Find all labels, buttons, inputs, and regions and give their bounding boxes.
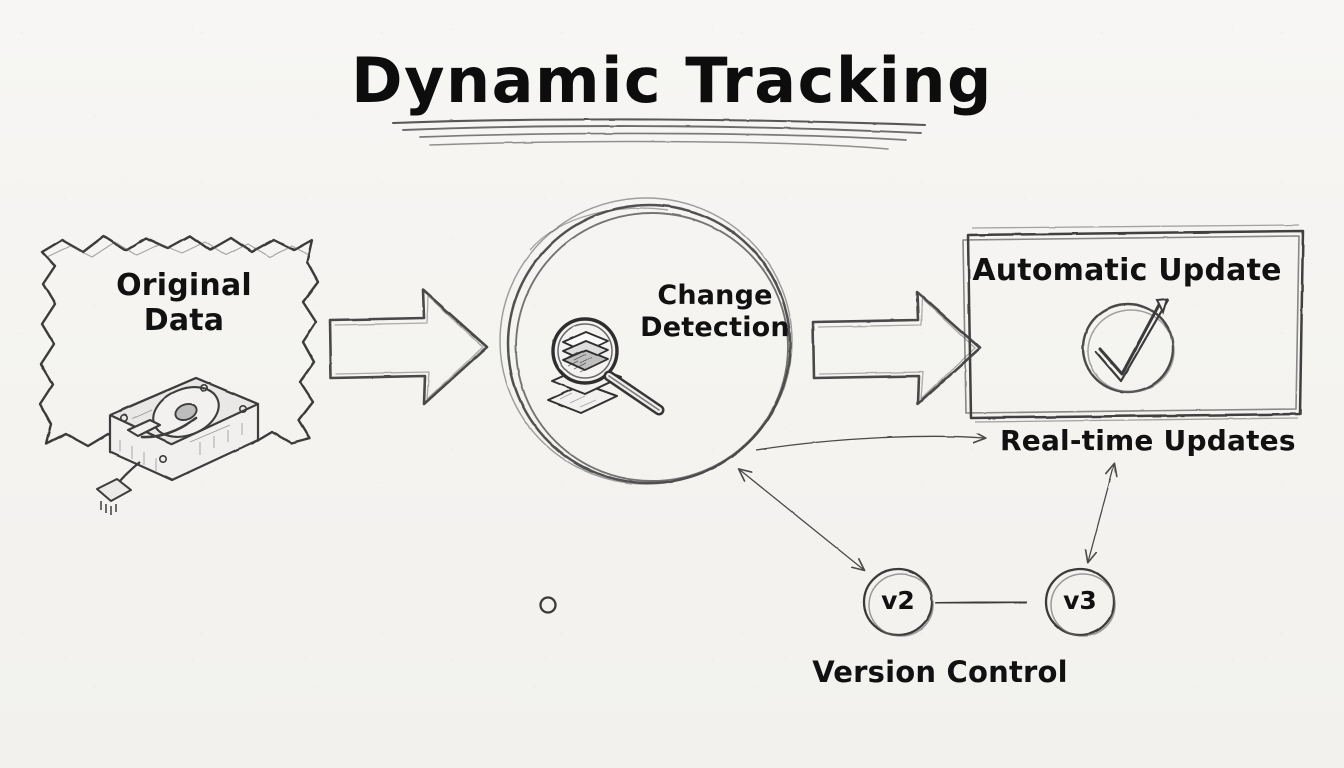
title-underline <box>393 119 925 149</box>
arrow-detection-to-realtime <box>756 436 985 450</box>
arrow-realtime-to-v3 <box>1088 465 1114 562</box>
hard-drive-icon <box>97 378 258 515</box>
block-arrow-detection-to-update <box>813 292 980 404</box>
original-data-label: Original Data <box>58 268 310 339</box>
circled-checkmark-icon <box>1083 299 1174 392</box>
automatic-update-label: Automatic Update <box>962 253 1292 288</box>
block-arrow-data-to-detection <box>330 290 487 404</box>
timeline-start-marker <box>541 598 556 613</box>
version-node-v3-label: v3 <box>1045 586 1115 615</box>
change-detection-label: Change Detection <box>600 280 830 344</box>
version-timeline <box>541 598 1024 613</box>
arrow-v2-to-v3 <box>936 602 1023 603</box>
version-control-label: Version Control <box>790 655 1090 689</box>
real-time-updates-label: Real-time Updates <box>1000 424 1296 457</box>
page-title: Dynamic Tracking <box>0 44 1344 117</box>
version-node-v2-label: v2 <box>863 586 933 615</box>
arrow-detection-to-v2 <box>740 470 864 570</box>
diagram-canvas: Dynamic Tracking Original Data Change De… <box>0 0 1344 768</box>
